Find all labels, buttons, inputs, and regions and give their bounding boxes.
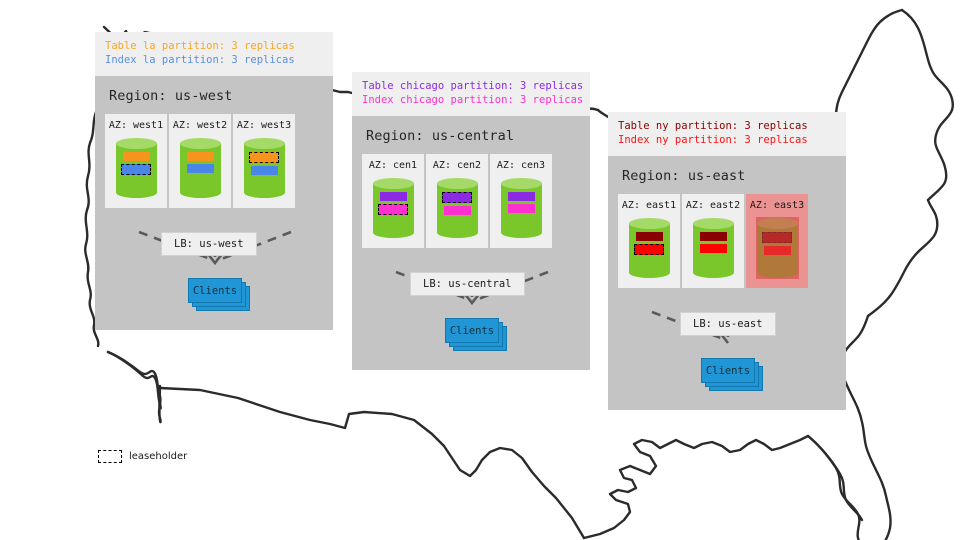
region-panel-us-west: Table la partition: 3 replicas Index la …	[95, 32, 333, 330]
clients-us-central[interactable]: Clients	[445, 318, 507, 351]
diagram-canvas: Table la partition: 3 replicas Index la …	[0, 0, 960, 540]
load-balancer-us-central[interactable]: LB: us-central	[410, 272, 525, 296]
region-panel-us-east: Table ny partition: 3 replicas Index ny …	[608, 112, 846, 410]
load-balancer-us-west[interactable]: LB: us-west	[161, 232, 257, 256]
legend-leaseholder: leaseholder	[98, 450, 187, 463]
clients-label: Clients	[445, 318, 499, 343]
legend-label: leaseholder	[129, 451, 187, 462]
clients-label: Clients	[701, 358, 755, 383]
clients-us-west[interactable]: Clients	[188, 278, 250, 311]
dashed-rect-icon	[98, 450, 122, 463]
load-balancer-us-east[interactable]: LB: us-east	[680, 312, 776, 336]
clients-us-east[interactable]: Clients	[701, 358, 763, 391]
region-panel-us-central: Table chicago partition: 3 replicas Inde…	[352, 72, 590, 370]
clients-label: Clients	[188, 278, 242, 303]
